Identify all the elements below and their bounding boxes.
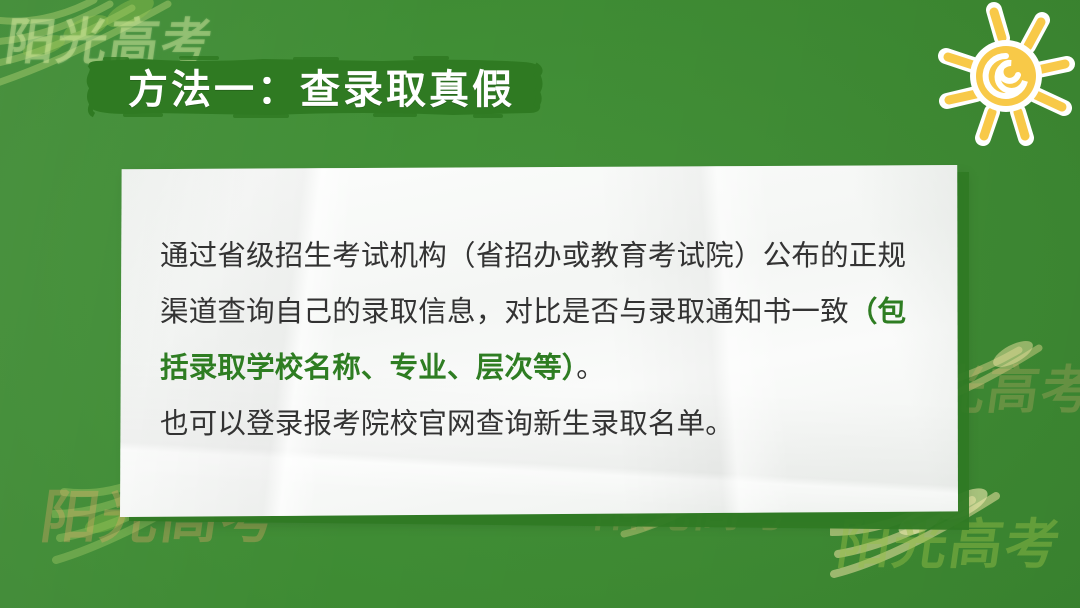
body-p1-part1: 通过省级招生考试机构（省招办或教育考试院）公布的正规渠道查询自己的录取信息，对比… xyxy=(160,240,906,328)
body-paragraph-1: 通过省级招生考试机构（省招办或教育考试院）公布的正规渠道查询自己的录取信息，对比… xyxy=(160,228,930,396)
sun-spiral-icon xyxy=(936,0,1076,148)
body-paragraph-2: 也可以登录报考院校官网查询新生录取名单。 xyxy=(160,396,930,452)
slide-root: 阳光高考 阳光高考 阳光高考 阳光高考 阳光高考 阳光高考 阳光高考 xyxy=(0,0,1080,608)
body-p1-part2: 。 xyxy=(576,352,605,384)
card-body-text: 通过省级招生考试机构（省招办或教育考试院）公布的正规渠道查询自己的录取信息，对比… xyxy=(160,228,930,452)
page-title: 方法一：查录取真假 xyxy=(128,62,548,118)
